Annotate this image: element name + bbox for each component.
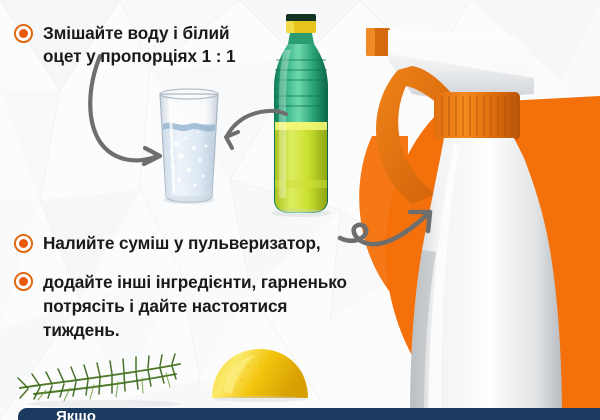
arrow-text-to-glass	[86, 52, 211, 172]
infographic-canvas: Змішайте воду і білий оцет у пропорціях …	[0, 0, 600, 420]
step-item-2: Налийте суміш у пульверизатор,	[14, 232, 344, 255]
arrow-bottle-to-glass	[218, 108, 290, 148]
step-1-text: Змішайте воду і білий оцет у пропорціях …	[43, 22, 235, 68]
lemon-half	[208, 346, 312, 404]
banner-text: Якщо	[56, 409, 96, 420]
arrow-text-to-spray-bottle	[336, 198, 444, 260]
bottom-navy-banner: Якщо	[18, 408, 600, 420]
orange-dot-bullet-icon	[14, 272, 33, 291]
step-item-3: додайте інші інгредієнти, гарненько потр…	[14, 270, 374, 342]
step-3-text: додайте інші інгредієнти, гарненько потр…	[43, 270, 347, 342]
orange-dot-bullet-icon	[14, 24, 33, 43]
step-item-1: Змішайте воду і білий оцет у пропорціях …	[14, 22, 304, 68]
orange-dot-bullet-icon	[14, 234, 33, 253]
rosemary-sprig	[8, 348, 198, 410]
step-2-text: Налийте суміш у пульверизатор,	[43, 232, 321, 255]
